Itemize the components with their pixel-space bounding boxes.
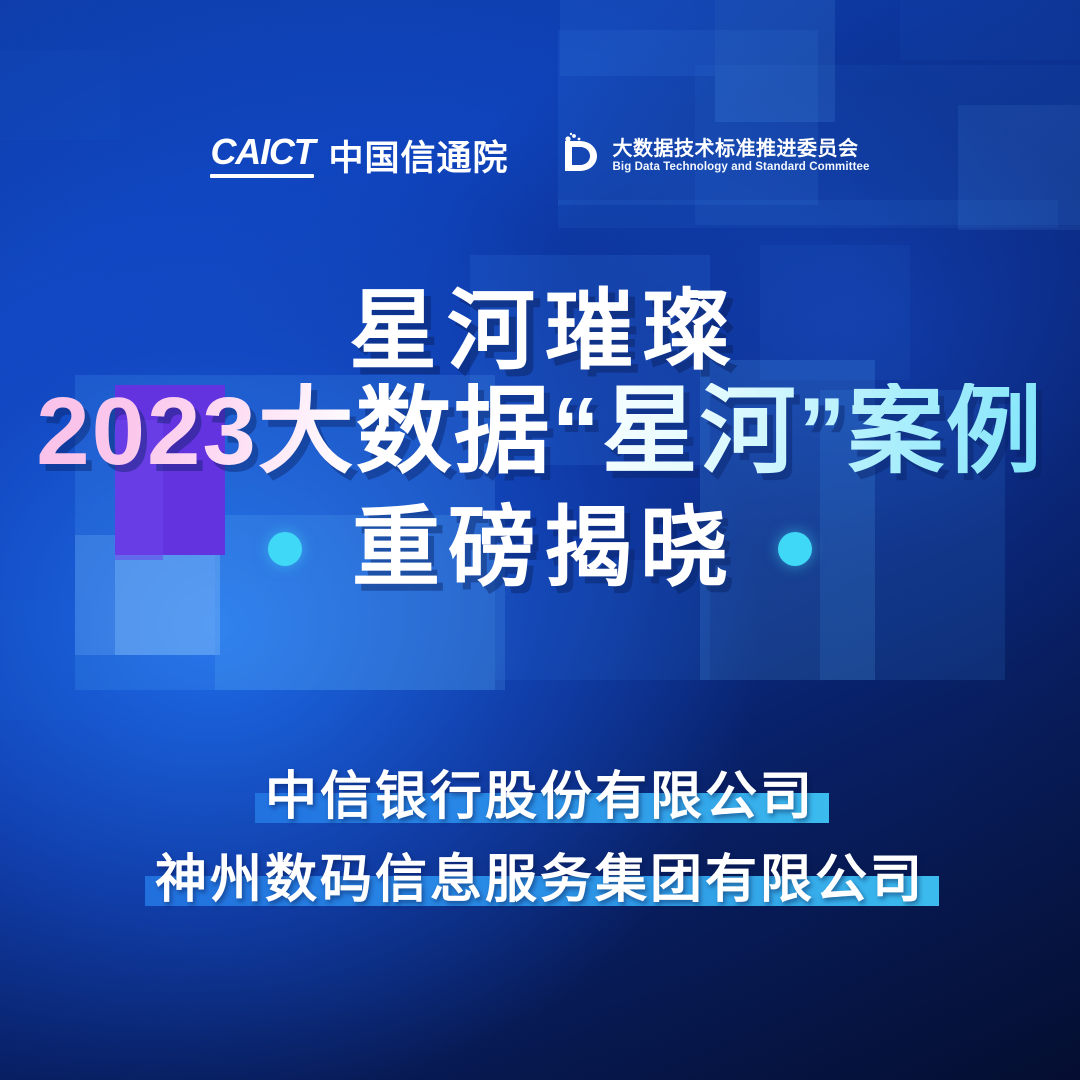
logo-row: CAICT 中国信通院 大数据技术标准推进委员会 <box>0 132 1080 180</box>
headline-line-1: 星河璀璨 <box>0 285 1080 377</box>
winner-name: 神州数码信息服务集团有限公司 <box>155 851 925 909</box>
dot-right-icon <box>778 532 812 566</box>
bdtsc-chinese-name: 大数据技术标准推进委员会 <box>613 139 870 159</box>
caict-chinese-name: 中国信通院 <box>328 141 508 178</box>
bdtsc-english-name: Big Data Technology and Standard Committ… <box>613 162 870 174</box>
headline-group: 星河璀璨 2023大数据“星河”案例 重磅揭晓 <box>0 285 1080 595</box>
poster-canvas: CAICT 中国信通院 大数据技术标准推进委员会 <box>0 0 1080 1080</box>
logo-caict: CAICT 中国信通院 <box>210 134 508 178</box>
caict-wordmark-text: CAICT <box>210 134 314 170</box>
headline-line-3-row: 重磅揭晓 <box>0 502 1080 594</box>
dot-left-icon <box>268 532 302 566</box>
winner-item: 神州数码信息服务集团有限公司 <box>149 853 931 908</box>
caict-underline-rule <box>210 174 314 178</box>
headline-line-3: 重磅揭晓 <box>344 502 736 594</box>
winner-name: 中信银行股份有限公司 <box>265 768 815 826</box>
headline-line-2: 2023大数据“星河”案例 <box>0 383 1080 481</box>
caict-wordmark: CAICT <box>210 134 314 178</box>
bdtsc-text-group: 大数据技术标准推进委员会 Big Data Technology and Sta… <box>613 139 870 174</box>
winner-list: 中信银行股份有限公司 神州数码信息服务集团有限公司 <box>0 770 1080 908</box>
logo-bdtsc: 大数据技术标准推进委员会 Big Data Technology and Sta… <box>555 132 870 180</box>
winner-item: 中信银行股份有限公司 <box>259 770 821 825</box>
bdtsc-d-mark-icon <box>555 132 601 180</box>
